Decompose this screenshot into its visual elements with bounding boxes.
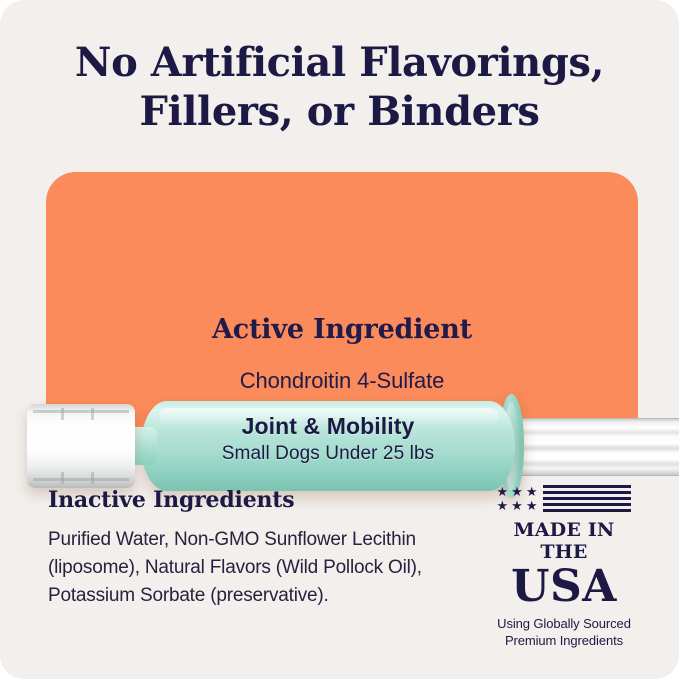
flag-stripe	[543, 509, 631, 512]
star-icon: ★	[497, 500, 509, 511]
flag-stripe	[543, 497, 631, 500]
flag-star-row-2: ★ ★ ★	[497, 500, 538, 511]
made-in-the-text: MADE IN THE	[489, 519, 639, 563]
plunger-rod-icon	[498, 418, 679, 476]
made-in-usa-badge: ★ ★ ★ ★ ★ ★ MADE IN THE USA Using Global	[489, 484, 639, 649]
inactive-ingredients-title: Inactive Ingredients	[48, 486, 448, 514]
star-icon: ★	[497, 486, 509, 497]
active-ingredient-title: Active Ingredient	[46, 313, 638, 347]
usa-subtext-line-1: Using Globally Sourced	[489, 615, 639, 632]
cap-notch-4	[91, 472, 94, 484]
headline-line-2: Fillers, or Binders	[0, 87, 679, 136]
star-icon: ★	[511, 486, 523, 497]
inactive-ingredients-block: Inactive Ingredients Purified Water, Non…	[48, 486, 448, 610]
cap-notch-1	[61, 408, 64, 420]
syringe-label-title: Joint & Mobility	[141, 412, 515, 440]
cap-ridge-top	[33, 410, 129, 413]
star-icon: ★	[511, 500, 523, 511]
flag-stripe	[543, 485, 631, 488]
flag-stars-group: ★ ★ ★ ★ ★ ★	[497, 486, 538, 511]
us-flag-icon: ★ ★ ★ ★ ★ ★	[489, 484, 639, 512]
usa-text: USA	[489, 564, 639, 610]
cap-ridge-bottom	[33, 478, 129, 481]
flag-stripe	[543, 503, 631, 506]
flag-stripe	[543, 491, 631, 494]
star-icon: ★	[526, 486, 538, 497]
syringe-illustration: Joint & Mobility Small Dogs Under 25 lbs	[0, 196, 679, 306]
syringe-label: Joint & Mobility Small Dogs Under 25 lbs	[141, 412, 515, 466]
syringe-label-subtitle: Small Dogs Under 25 lbs	[141, 442, 515, 466]
page-title: No Artificial Flavorings, Fillers, or Bi…	[0, 38, 679, 136]
cap-notch-3	[61, 472, 64, 484]
flag-star-row-1: ★ ★ ★	[497, 486, 538, 497]
star-icon: ★	[526, 500, 538, 511]
flag-stripes-group	[543, 485, 631, 512]
active-ingredient-name: Chondroitin 4-Sulfate	[46, 365, 638, 396]
syringe-cap-icon	[27, 404, 135, 488]
usa-subtext-line-2: Premium Ingredients	[489, 632, 639, 649]
headline-line-1: No Artificial Flavorings,	[75, 39, 604, 86]
cap-notch-2	[91, 408, 94, 420]
infographic-canvas: No Artificial Flavorings, Fillers, or Bi…	[0, 0, 679, 679]
inactive-ingredients-body: Purified Water, Non-GMO Sunflower Lecith…	[48, 526, 448, 610]
